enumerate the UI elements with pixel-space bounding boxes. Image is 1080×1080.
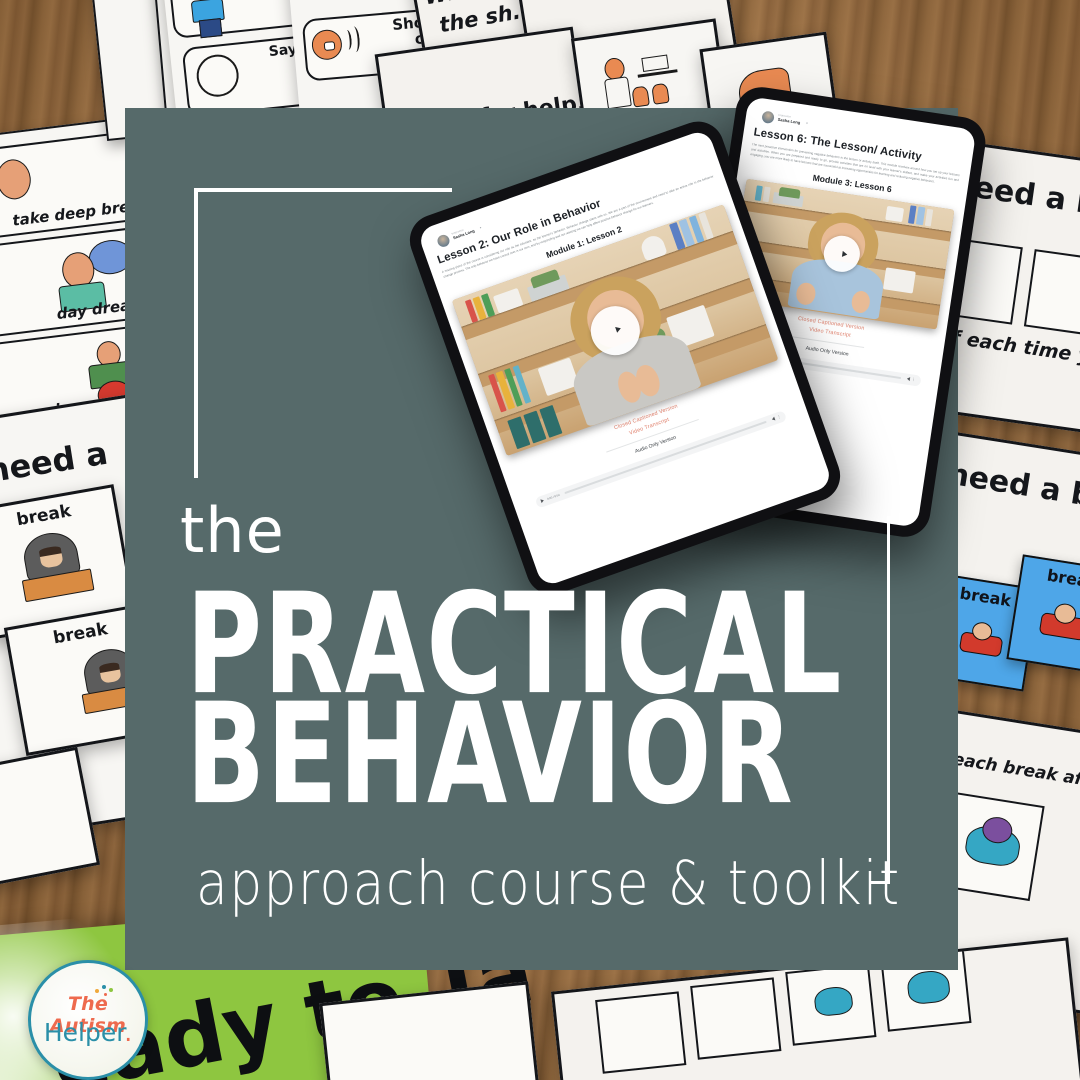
poster-canvas: take deep breaths day dream bounce on ba… bbox=[0, 0, 1080, 1080]
brand-logo[interactable]: The Autism Helper. bbox=[28, 960, 148, 1080]
speaker-icon-6[interactable] bbox=[906, 377, 910, 381]
bracket-left-vertical bbox=[194, 188, 198, 478]
speaker-icon-2[interactable] bbox=[772, 417, 776, 422]
instructor-avatar bbox=[436, 233, 451, 248]
chevron-down-icon[interactable]: ▾ bbox=[479, 226, 482, 230]
logo-helper-text: Helper bbox=[44, 1018, 124, 1047]
blue-break-label-2: break bbox=[1021, 562, 1080, 597]
bottom-grid-label: I need bbox=[627, 1044, 1080, 1080]
overflow-menu-icon-2[interactable]: ⋮ bbox=[777, 417, 781, 418]
right-break-title-2: need a break? bbox=[945, 457, 1080, 531]
overflow-menu-icon-6[interactable]: ⋮ bbox=[911, 380, 915, 381]
break-token-label-1: break bbox=[0, 494, 115, 538]
instructor-name: Sasha Long bbox=[777, 118, 800, 126]
chevron-down-icon[interactable]: ▾ bbox=[806, 121, 808, 125]
title-line-behavior: BEHAVIOR bbox=[186, 690, 794, 818]
title-eyebrow: the bbox=[180, 500, 285, 562]
logo-line-2: Helper. bbox=[31, 1018, 145, 1047]
audio-play-icon-2[interactable] bbox=[540, 499, 544, 504]
title-subtitle: approach course & toolkit bbox=[196, 848, 901, 919]
audio-time-2: 0:00 / 8:54 bbox=[547, 493, 561, 501]
bracket-top-horizontal bbox=[194, 188, 452, 192]
instructor-avatar bbox=[761, 110, 775, 124]
bracket-right-vertical bbox=[887, 516, 890, 884]
logo-period: . bbox=[124, 1018, 132, 1047]
